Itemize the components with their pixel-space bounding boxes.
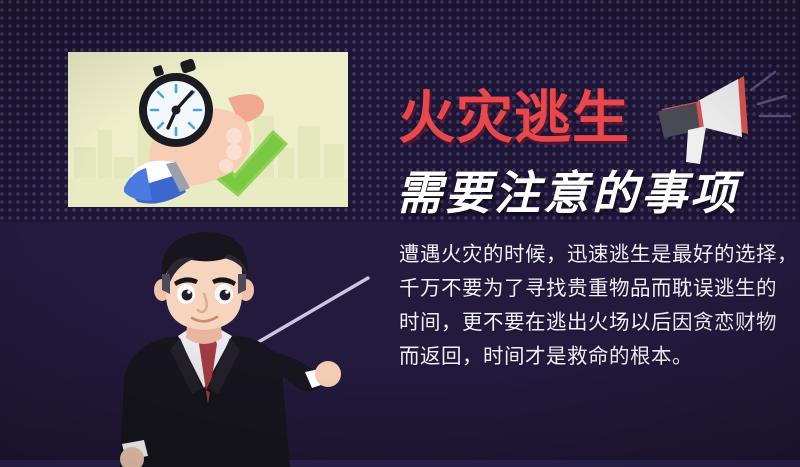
body-line-4: 而返回，时间才是救命的根本。 — [399, 339, 791, 373]
megaphone-icon — [648, 68, 798, 173]
stopwatch-icon — [139, 58, 213, 147]
hand-stopwatch-illustration — [68, 52, 348, 207]
body-line-3: 时间，更不要在逃出火场以后因贪恋财物 — [399, 305, 791, 339]
poster-canvas: 火灾逃生 需要注意的事项 遭遇火灾的时候，迅速逃生是最好的选择， 千万不要为了寻… — [0, 0, 800, 467]
hand-right — [315, 361, 341, 387]
poster-title-main: 火灾逃生 — [398, 72, 630, 154]
body-line-1: 遭遇火灾的时候，迅速逃生是最好的选择， — [399, 237, 791, 271]
poster-body-text: 遭遇火灾的时候，迅速逃生是最好的选择， 千万不要为了寻找贵重物品而耽误逃生的 时… — [399, 237, 791, 373]
body-line-2: 千万不要为了寻找贵重物品而耽误逃生的 — [399, 271, 791, 305]
presenter-illustration — [100, 228, 370, 467]
hero-image-card — [68, 52, 348, 207]
